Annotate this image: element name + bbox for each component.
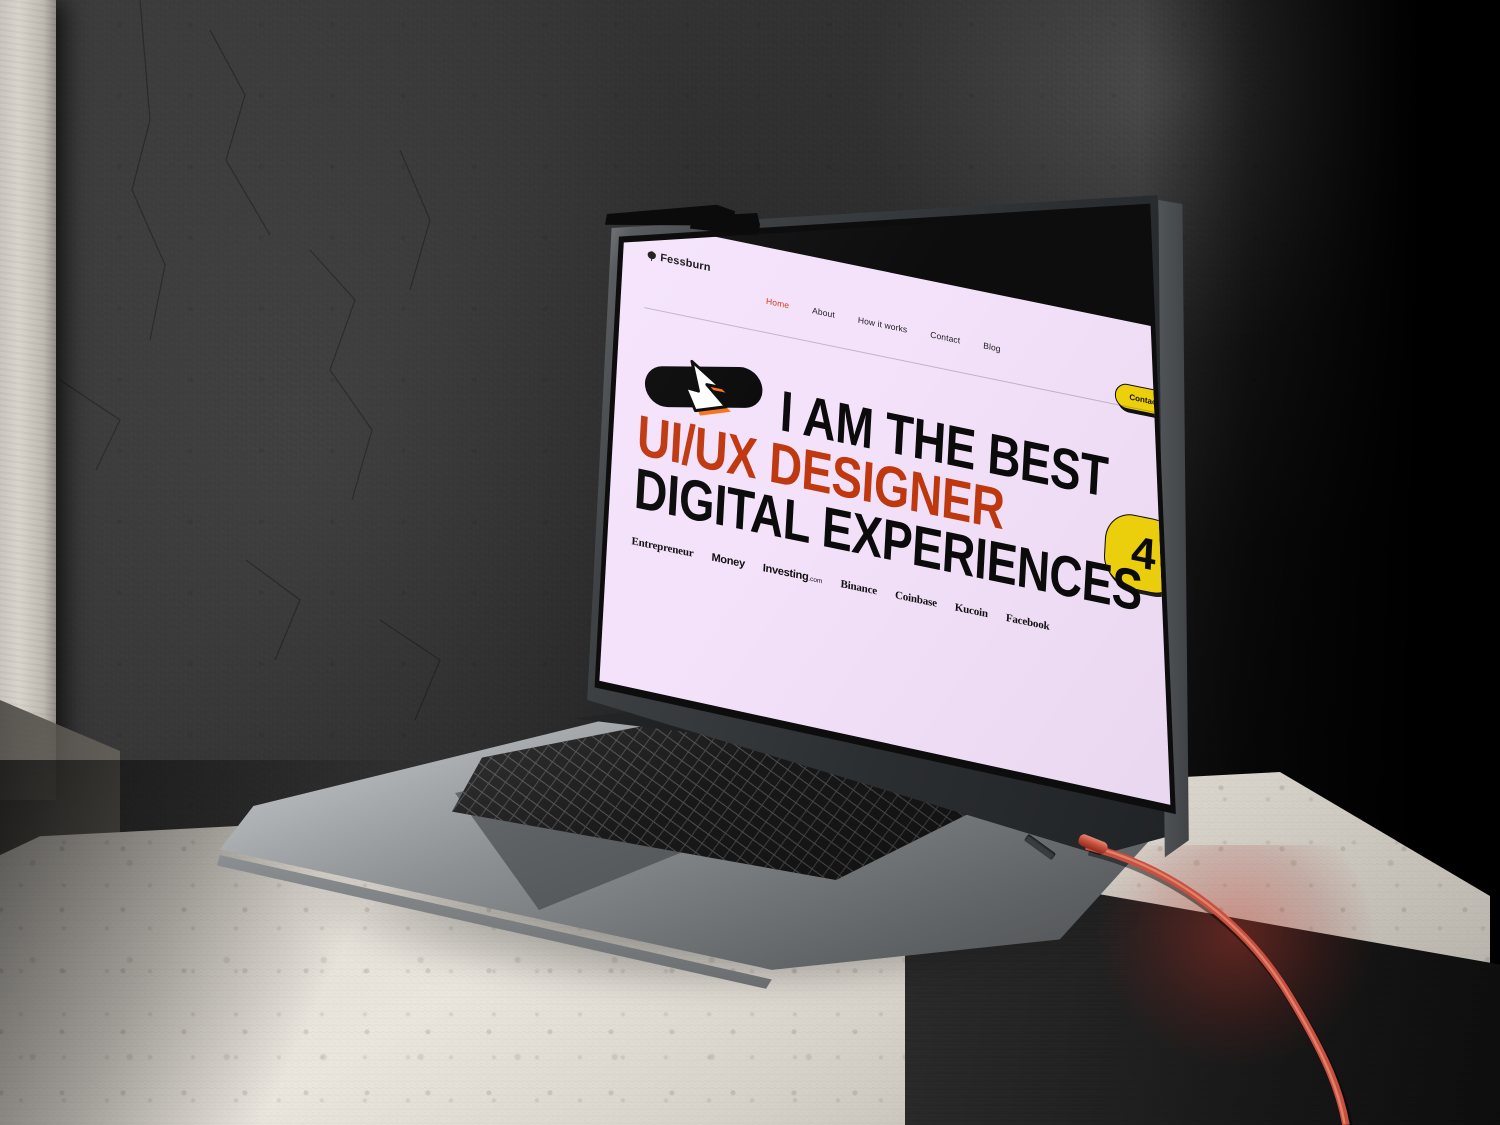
leaf-mark-icon [647,250,657,262]
brand-investing: Investing.com [762,562,822,586]
brand-entrepreneur: Entrepreneur [631,535,694,560]
logo-text: Fessburn [660,252,711,274]
nav-item-how-it-works[interactable]: How it works [858,315,908,335]
brand-facebook: Facebook [1006,612,1050,633]
brand-kucoin: Kucoin [954,601,988,620]
brand-investing-suffix: .com [808,575,822,585]
brand-investing-name: Investing [762,562,808,583]
nav-item-home[interactable]: Home [766,296,790,311]
nav-item-about[interactable]: About [812,305,835,320]
nav-item-contact[interactable]: Contact [930,329,961,345]
nav-item-blog[interactable]: Blog [983,340,1001,354]
brand-binance: Binance [840,578,877,597]
site-logo[interactable]: Fessburn [647,249,1185,372]
scene-root: Fessburn Home About How it works Contact… [0,0,1500,1125]
brand-money: Money [711,552,745,571]
laptop-device: Fessburn Home About How it works Contact… [0,0,1500,1125]
brand-coinbase: Coinbase [895,589,937,610]
